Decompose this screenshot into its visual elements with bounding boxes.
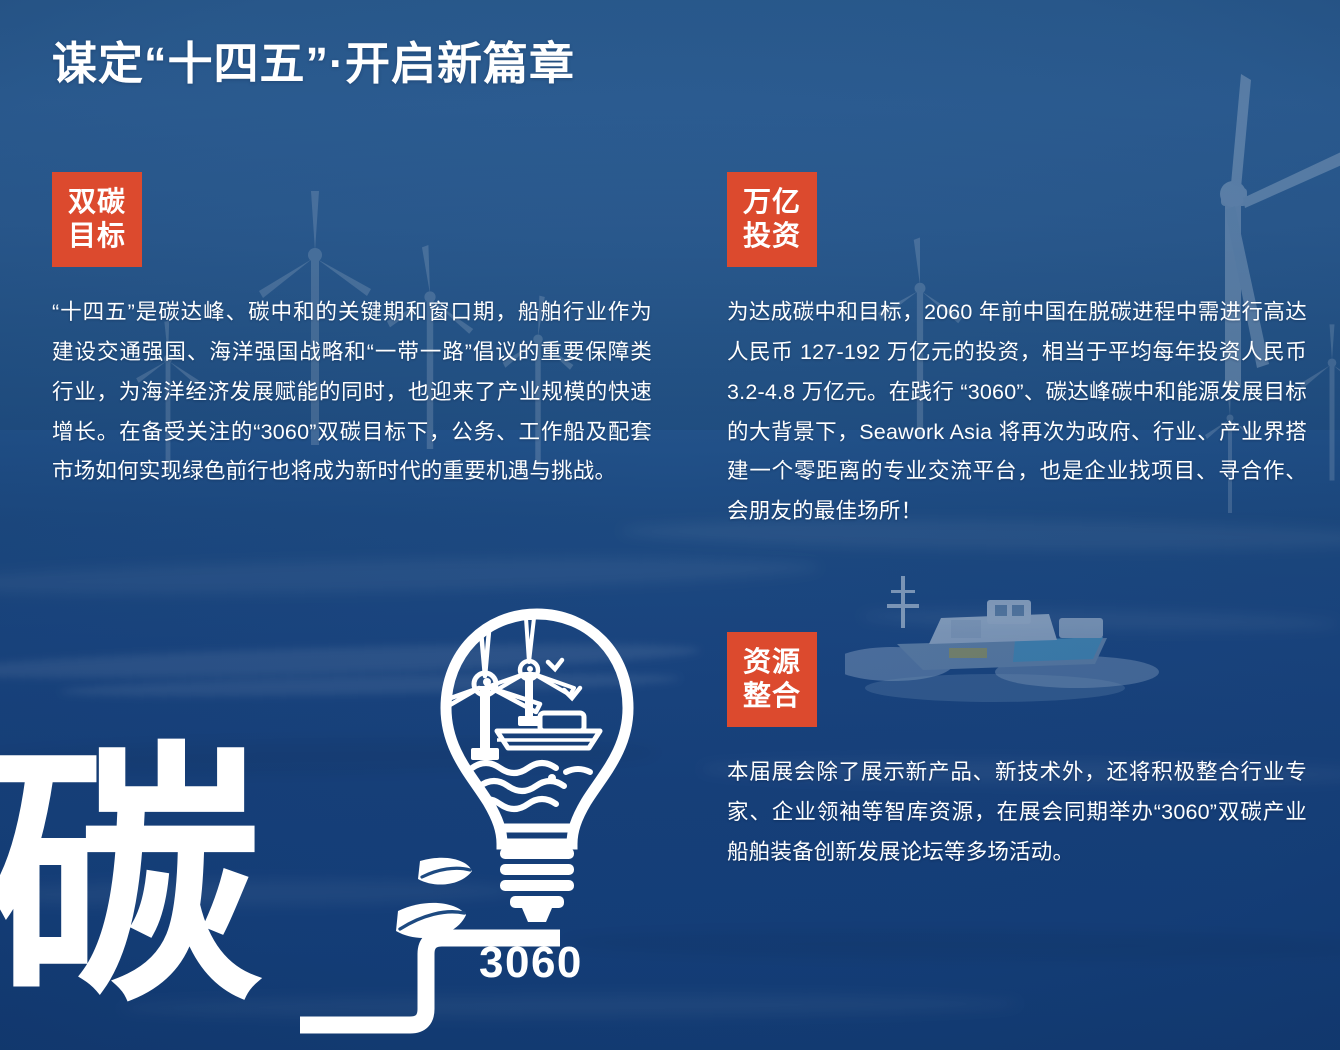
poster-canvas: 谋定“十四五”·开启新篇章 双碳 目标 “十四五”是碳达峰、碳中和的关键期和窗口… — [0, 0, 1340, 1050]
poster-content: 谋定“十四五”·开启新篇章 双碳 目标 “十四五”是碳达峰、碳中和的关键期和窗口… — [0, 0, 1340, 1050]
status-badge: 双碳 目标 — [52, 172, 142, 267]
bulb-ship-icon — [497, 713, 600, 748]
big-carbon-character: 碳 — [0, 742, 261, 1017]
section-body-text: “十四五”是碳达峰、碳中和的关键期和窗口期，船舶行业作为建设交通强国、海洋强国战… — [52, 293, 652, 492]
page-title: 谋定“十四五”·开启新篇章 — [52, 38, 575, 90]
section-resource-integration: 资源 整合 本届展会除了展示新产品、新技术外，还将积极整合行业专家、企业领袖等智… — [727, 632, 1307, 873]
section-body-text: 本届展会除了展示新产品、新技术外，还将积极整合行业专家、企业领袖等智库资源，在展… — [727, 753, 1307, 872]
section-dual-carbon-goal: 双碳 目标 “十四五”是碳达峰、碳中和的关键期和窗口期，船舶行业作为建设交通强国… — [52, 172, 652, 492]
bulb-cap-icon — [500, 848, 574, 922]
lightbulb-emblem-icon — [430, 600, 645, 945]
section-body-text: 为达成碳中和目标，2060 年前中国在脱碳进程中需进行高达人民币 127-192… — [727, 293, 1307, 532]
bulb-turbine-right-icon — [484, 618, 574, 726]
status-badge: 资源 整合 — [727, 632, 817, 727]
status-badge: 万亿 投资 — [727, 172, 817, 267]
bulb-waves-icon — [472, 763, 590, 809]
number-label-3060: 3060 — [479, 941, 583, 985]
section-trillion-investment: 万亿 投资 为达成碳中和目标，2060 年前中国在脱碳进程中需进行高达人民币 1… — [727, 172, 1307, 532]
bulb-bubble-icon — [548, 774, 556, 782]
